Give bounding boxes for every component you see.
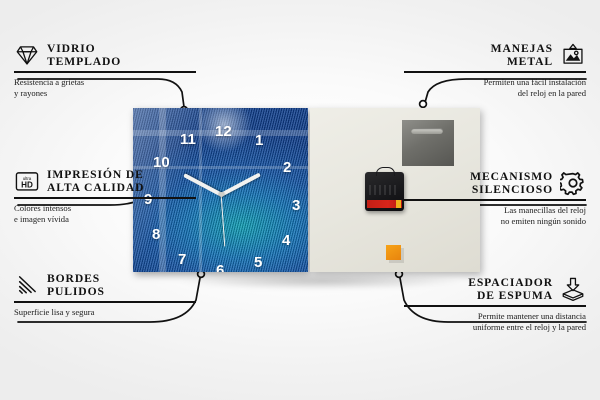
foam-spacer	[386, 245, 401, 260]
feature-description: Superficie lisa y segura	[14, 303, 196, 318]
feature-manejas-metal: MANEJAS METAL Permiten una fácil instala…	[404, 42, 586, 99]
gear-icon	[560, 170, 586, 196]
feature-title: MANEJAS METAL	[491, 42, 553, 68]
feature-header: ultra HD IMPRESIÓN DE ALTA CALIDAD	[14, 168, 196, 197]
feature-espaciador-espuma: ESPACIADOR DE ESPUMA Permite mantener un…	[404, 276, 586, 333]
connector-dot-manejas	[420, 101, 427, 108]
feature-bordes-pulidos: BORDES PULIDOS Superficie lisa y segura	[14, 272, 196, 318]
feature-header: VIDRIO TEMPLADO	[14, 42, 196, 71]
mechanism-yellow-tab	[396, 200, 401, 208]
infographic-canvas: 12 1 2 3 4 5 6 7 8 9 10 11	[0, 0, 600, 400]
clock-numeral-5: 5	[254, 255, 262, 270]
ultra-hd-icon-large-text: HD	[21, 181, 33, 190]
feature-description: Las manecillas del reloj no emiten ningú…	[404, 201, 586, 227]
feature-header: MECANISMO SILENCIOSO	[404, 170, 586, 199]
feature-description: Colores intensos e imagen vívida	[14, 199, 196, 225]
clock-numeral-11: 11	[180, 132, 196, 147]
diamond-icon	[14, 42, 40, 68]
mechanism-hanging-loop	[376, 167, 395, 176]
clock-numeral-7: 7	[178, 252, 186, 267]
feature-title: VIDRIO TEMPLADO	[47, 42, 121, 68]
clock-mechanism-box	[365, 172, 404, 211]
foam-spacer-icon	[560, 276, 586, 302]
feature-impresion-alta-calidad: ultra HD IMPRESIÓN DE ALTA CALIDAD Color…	[14, 168, 196, 225]
ultra-hd-icon: ultra HD	[14, 168, 40, 194]
clock-numeral-1: 1	[255, 133, 263, 148]
feature-header: MANEJAS METAL	[404, 42, 586, 71]
clock-numeral-6: 6	[216, 263, 224, 272]
feature-vidrio-templado: VIDRIO TEMPLADO Resistencia a grietas y …	[14, 42, 196, 99]
feature-title: ESPACIADOR DE ESPUMA	[468, 276, 553, 302]
clock-numeral-2: 2	[283, 160, 291, 175]
hanger-keyhole-slot	[411, 128, 443, 134]
feature-mecanismo-silencioso: MECANISMO SILENCIOSO Las manecillas del …	[404, 170, 586, 227]
mechanism-detail	[369, 185, 397, 195]
polished-edge-icon	[14, 272, 40, 298]
feature-description: Resistencia a grietas y rayones	[14, 73, 196, 99]
clock-numeral-8: 8	[152, 227, 160, 242]
feature-header: ESPACIADOR DE ESPUMA	[404, 276, 586, 305]
clock-numeral-4: 4	[282, 233, 290, 248]
metal-hanger-plate	[402, 120, 454, 166]
hanging-frame-icon	[560, 42, 586, 68]
feature-description: Permite mantener una distancia uniforme …	[404, 307, 586, 333]
clock-center-pin	[219, 192, 224, 197]
feature-description: Permiten una fácil instalación del reloj…	[404, 73, 586, 99]
clock-numeral-12: 12	[215, 124, 232, 139]
feature-header: BORDES PULIDOS	[14, 272, 196, 301]
clock-numeral-3: 3	[292, 198, 300, 213]
feature-title: BORDES PULIDOS	[47, 272, 105, 298]
feature-title: IMPRESIÓN DE ALTA CALIDAD	[47, 168, 144, 194]
feature-title: MECANISMO SILENCIOSO	[470, 170, 553, 196]
